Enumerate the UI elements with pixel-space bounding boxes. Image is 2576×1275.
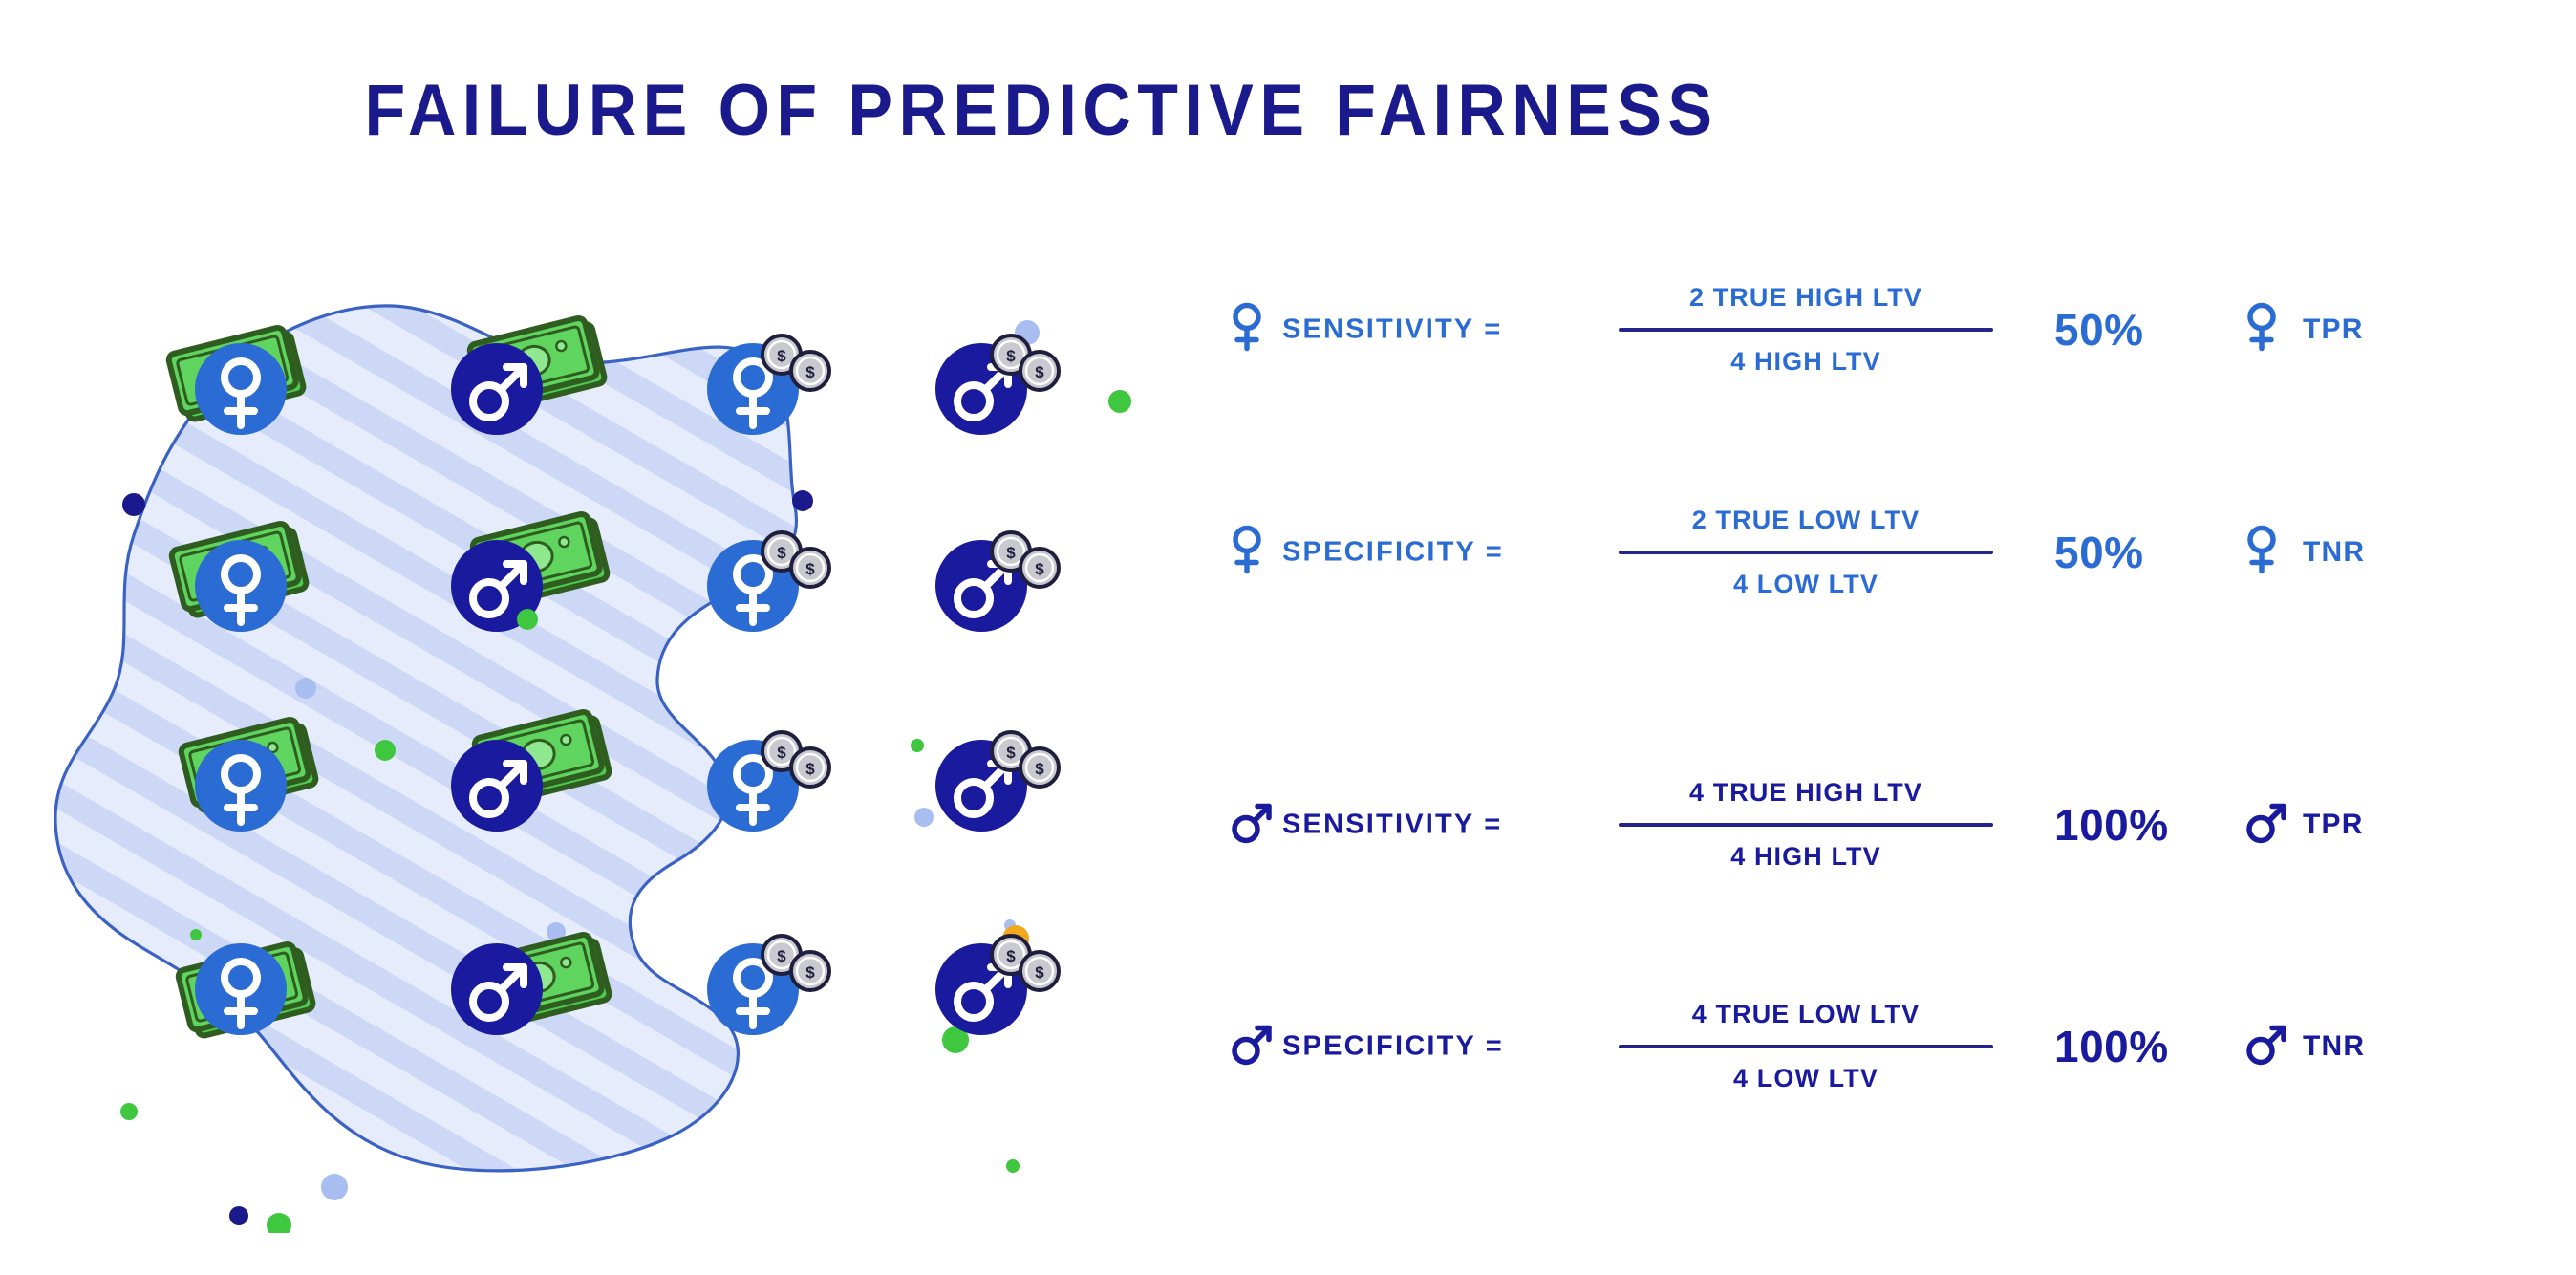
metric-row-female-specificity: SPECIFICITY = 2 TRUE LOW LTV 4 LOW LTV 5… [1213,462,2551,643]
metric-result: 50% [2054,304,2144,356]
metric-label: SPECIFICITY = [1282,1031,1504,1063]
metric-result: 100% [2054,799,2169,851]
metric-row-female-sensitivity: SENSITIVITY = 2 TRUE HIGH LTV 4 HIGH LTV… [1213,239,2551,421]
female-symbol-icon [2245,526,2278,580]
metric-label: SENSITIVITY = [1282,314,1502,346]
fraction-bar [1619,1045,1993,1048]
fraction: 4 TRUE LOW LTV 4 LOW LTV [1615,1000,1997,1093]
male-symbol-icon [1231,801,1275,850]
metric-label: SENSITIVITY = [1282,810,1502,841]
rate-label: TPR [2303,809,2364,841]
fraction-bar [1619,551,1993,554]
fraction: 4 TRUE HIGH LTV 4 HIGH LTV [1615,778,1997,872]
fraction-numerator: 4 TRUE LOW LTV [1615,1000,1997,1029]
fraction-numerator: 2 TRUE HIGH LTV [1615,283,1997,313]
fraction-denominator: 4 HIGH LTV [1615,842,1997,872]
female-symbol-icon [1231,526,1263,580]
fraction-numerator: 2 TRUE LOW LTV [1615,506,1997,535]
fraction-denominator: 4 LOW LTV [1615,570,1997,599]
metric-result: 100% [2054,1021,2169,1072]
male-symbol-icon [1231,1023,1275,1071]
metric-label: SPECIFICITY = [1282,537,1504,569]
fraction-bar [1619,328,1993,332]
rate-label: TNR [2303,536,2365,569]
fraction-denominator: 4 LOW LTV [1615,1064,1997,1093]
fraction-denominator: 4 HIGH LTV [1615,347,1997,377]
rate-label: TNR [2303,1030,2365,1063]
high-ltv-region [0,220,1204,1233]
metric-row-male-specificity: SPECIFICITY = 4 TRUE LOW LTV 4 LOW LTV 1… [1213,956,2551,1137]
fraction-numerator: 4 TRUE HIGH LTV [1615,778,1997,808]
fraction: 2 TRUE LOW LTV 4 LOW LTV [1615,506,1997,599]
metrics-panel: SENSITIVITY = 2 TRUE HIGH LTV 4 HIGH LTV… [1213,239,2551,1147]
male-symbol-icon [2245,801,2289,850]
infographic-page: FAILURE OF PREDICTIVE FAIRNESS [0,0,2576,1275]
rate-label: TPR [2303,313,2364,346]
male-symbol-icon [2245,1023,2289,1071]
female-symbol-icon [2245,303,2278,357]
metric-result: 50% [2054,527,2144,578]
fraction-bar [1619,823,1993,827]
page-title: FAILURE OF PREDICTIVE FAIRNESS [83,69,2000,152]
ltv-population-illustration: $ $ $ [0,220,1204,1233]
fraction: 2 TRUE HIGH LTV 4 HIGH LTV [1615,283,1997,377]
female-symbol-icon [1231,303,1263,357]
metric-row-male-sensitivity: SENSITIVITY = 4 TRUE HIGH LTV 4 HIGH LTV… [1213,734,2551,916]
